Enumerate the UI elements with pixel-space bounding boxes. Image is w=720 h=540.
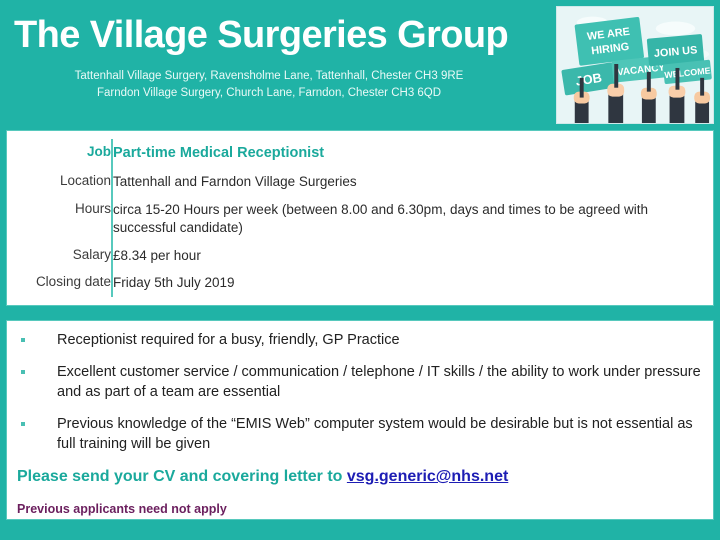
detail-label-location: Location <box>7 168 112 196</box>
table-row-hours: Hours circa 15-20 Hours per week (betwee… <box>7 196 713 242</box>
detail-value-closing-date: Friday 5th July 2019 <box>112 269 713 297</box>
panel-divider-gap <box>0 306 720 320</box>
detail-label-salary: Salary <box>7 242 112 270</box>
detail-value-hours: circa 15-20 Hours per week (between 8.00… <box>112 196 713 242</box>
bullet-dot-icon <box>21 338 25 342</box>
job-details-table: Job Part-time Medical Receptionist Locat… <box>7 139 713 297</box>
poster-header: The Village Surgeries Group Tattenhall V… <box>0 0 720 130</box>
organisation-title: The Village Surgeries Group <box>14 16 554 56</box>
bullet-dot-icon <box>21 370 25 374</box>
list-item-text: Excellent customer service / communicati… <box>57 364 701 399</box>
detail-label-closing-date: Closing date <box>7 269 112 297</box>
apply-email-link[interactable]: vsg.generic@nhs.net <box>347 468 508 485</box>
detail-label-hours: Hours <box>7 196 112 242</box>
list-item-text: Previous knowledge of the “EMIS Web” com… <box>57 416 693 451</box>
bullet-dot-icon <box>21 422 25 426</box>
job-description-panel: Receptionist required for a busy, friend… <box>6 320 714 520</box>
list-item: Receptionist required for a busy, friend… <box>17 331 703 350</box>
sign-we-are-hiring: WE ARE HIRING <box>574 17 644 66</box>
table-row-location: Location Tattenhall and Farndon Village … <box>7 168 713 196</box>
detail-value-job: Part-time Medical Receptionist <box>112 139 713 168</box>
job-details-panel: Job Part-time Medical Receptionist Locat… <box>6 130 714 306</box>
table-row-closing-date: Closing date Friday 5th July 2019 <box>7 269 713 297</box>
previous-applicants-note: Previous applicants need not apply <box>17 502 703 516</box>
hiring-illustration: JOB WE ARE HIRING VACANCY JOIN US <box>556 6 714 124</box>
requirements-list: Receptionist required for a busy, friend… <box>17 331 703 454</box>
job-advert-poster: The Village Surgeries Group Tattenhall V… <box>0 0 720 540</box>
address-line-tattenhall: Tattenhall Village Surgery, Ravensholme … <box>14 68 524 85</box>
list-item: Excellent customer service / communicati… <box>17 363 703 402</box>
apply-instruction: Please send your CV and covering letter … <box>17 467 703 488</box>
address-line-farndon: Farndon Village Surgery, Church Lane, Fa… <box>14 85 524 102</box>
detail-value-location: Tattenhall and Farndon Village Surgeries <box>112 168 713 196</box>
hiring-illustration-svg: JOB WE ARE HIRING VACANCY JOIN US <box>557 7 713 123</box>
list-item: Previous knowledge of the “EMIS Web” com… <box>17 415 703 454</box>
table-row-salary: Salary £8.34 per hour <box>7 242 713 270</box>
apply-instruction-text: Please send your CV and covering letter … <box>17 468 347 485</box>
address-block: Tattenhall Village Surgery, Ravensholme … <box>14 68 554 101</box>
list-item-text: Receptionist required for a busy, friend… <box>57 332 400 348</box>
header-text-block: The Village Surgeries Group Tattenhall V… <box>14 16 554 101</box>
detail-label-job: Job <box>7 139 112 168</box>
detail-value-salary: £8.34 per hour <box>112 242 713 270</box>
table-row-job: Job Part-time Medical Receptionist <box>7 139 713 168</box>
